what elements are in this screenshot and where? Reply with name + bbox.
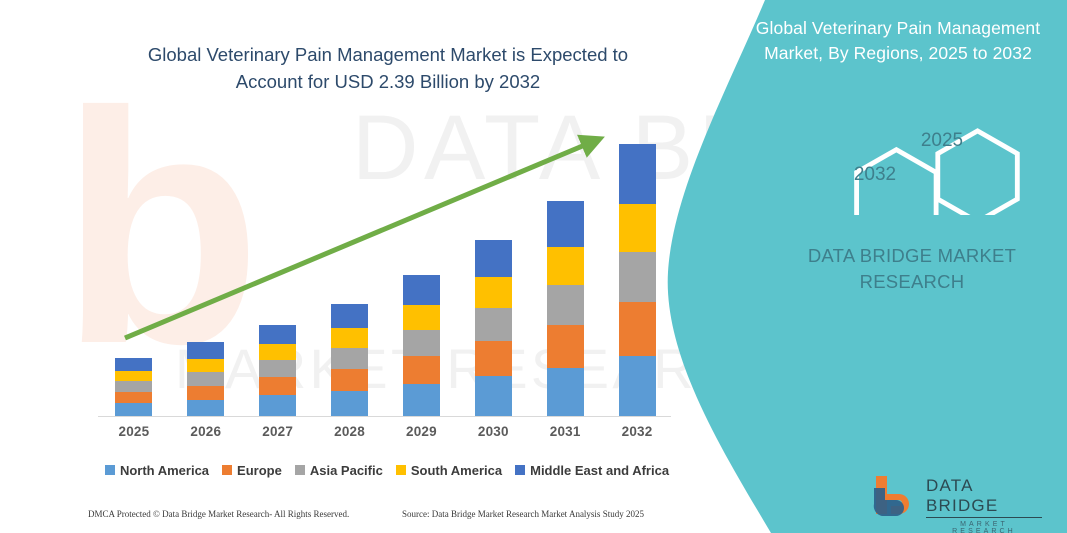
bar-segment xyxy=(115,403,152,416)
bar-column xyxy=(170,342,241,416)
bar-column xyxy=(314,304,385,416)
bar-segment xyxy=(331,304,368,328)
bar-segment xyxy=(187,400,224,416)
stacked-bar xyxy=(115,358,152,416)
bar-segment xyxy=(187,359,224,372)
legend-label: Middle East and Africa xyxy=(530,463,669,478)
stacked-bar xyxy=(259,325,296,416)
x-axis-label: 2026 xyxy=(170,424,241,450)
legend-swatch-icon xyxy=(105,465,115,475)
legend-label: Asia Pacific xyxy=(310,463,383,478)
legend-item[interactable]: North America xyxy=(105,463,209,478)
bar-segment xyxy=(547,285,584,325)
bar-segment xyxy=(547,247,584,285)
footer-copyright: DMCA Protected © Data Bridge Market Rese… xyxy=(88,509,349,519)
legend-label: North America xyxy=(120,463,209,478)
bar-segment xyxy=(187,386,224,400)
stacked-bar xyxy=(187,342,224,416)
bar-segment xyxy=(331,391,368,416)
footer-source: Source: Data Bridge Market Research Mark… xyxy=(402,509,644,519)
bar-segment xyxy=(475,308,512,341)
bar-segment xyxy=(259,325,296,344)
bar-segment xyxy=(475,376,512,416)
bar-column xyxy=(602,144,673,416)
bar-segment xyxy=(331,328,368,348)
bar-segment xyxy=(403,384,440,416)
bar-segment xyxy=(475,277,512,308)
bar-segment xyxy=(331,348,368,369)
x-axis-label: 2031 xyxy=(530,424,601,450)
bar-segment xyxy=(403,275,440,305)
chart-legend: North AmericaEuropeAsia PacificSouth Ame… xyxy=(98,458,676,482)
bar-segment xyxy=(619,144,656,204)
bar-segment xyxy=(259,360,296,377)
bar-segment xyxy=(331,369,368,391)
legend-label: South America xyxy=(411,463,502,478)
bar-segment xyxy=(475,240,512,277)
bar-segment xyxy=(619,356,656,416)
legend-item[interactable]: Asia Pacific xyxy=(295,463,383,478)
bar-segment xyxy=(115,381,152,392)
stacked-bar-chart xyxy=(98,120,673,416)
x-axis-labels: 20252026202720282029203020312032 xyxy=(98,424,673,450)
legend-item[interactable]: Middle East and Africa xyxy=(515,463,669,478)
legend-swatch-icon xyxy=(295,465,305,475)
hexagon-label-2025: 2025 xyxy=(921,130,963,151)
bar-segment xyxy=(547,325,584,368)
bar-segment xyxy=(187,372,224,386)
chart-title: Global Veterinary Pain Management Market… xyxy=(118,42,658,96)
dbmr-logo: DATA BRIDGE MARKET RESEARCH xyxy=(872,474,1042,516)
legend-label: Europe xyxy=(237,463,282,478)
panel-title: Global Veterinary Pain Management Market… xyxy=(742,16,1054,66)
bar-column xyxy=(458,240,529,416)
infographic-canvas: b DATA BRIDGE MARKET RESEARCH Global Vet… xyxy=(0,0,1067,533)
legend-swatch-icon xyxy=(222,465,232,475)
legend-swatch-icon xyxy=(515,465,525,475)
legend-item[interactable]: Europe xyxy=(222,463,282,478)
hexagon-label-2032: 2032 xyxy=(854,164,896,185)
bar-segment xyxy=(619,302,656,356)
x-axis-line xyxy=(98,416,671,417)
legend-swatch-icon xyxy=(396,465,406,475)
legend-item[interactable]: South America xyxy=(396,463,502,478)
hexagon-group: 2025 2032 xyxy=(820,100,1050,215)
bar-segment xyxy=(259,344,296,360)
stacked-bar xyxy=(403,275,440,416)
bar-segment xyxy=(619,204,656,252)
bar-segment xyxy=(187,342,224,359)
bar-segment xyxy=(115,371,152,381)
x-axis-label: 2027 xyxy=(242,424,313,450)
bar-segment xyxy=(115,358,152,371)
stacked-bar xyxy=(619,144,656,416)
bar-column xyxy=(98,358,169,416)
bar-column xyxy=(242,325,313,416)
stacked-bar xyxy=(475,240,512,416)
bar-segment xyxy=(547,201,584,247)
logo-tagline: MARKET RESEARCH xyxy=(926,521,1042,533)
stacked-bar xyxy=(547,201,584,416)
bar-segment xyxy=(259,395,296,416)
bar-segment xyxy=(115,392,152,403)
x-axis-label: 2028 xyxy=(314,424,385,450)
bar-segment xyxy=(403,356,440,384)
bar-segment xyxy=(547,368,584,416)
x-axis-label: 2029 xyxy=(386,424,457,450)
brand-name: DATA BRIDGE MARKET RESEARCH xyxy=(780,243,1044,296)
bar-segment xyxy=(259,377,296,395)
x-axis-label: 2025 xyxy=(98,424,169,450)
stacked-bar xyxy=(331,304,368,416)
x-axis-label: 2032 xyxy=(602,424,673,450)
bar-segment xyxy=(403,305,440,330)
logo-title: DATA BRIDGE xyxy=(926,476,1042,518)
bar-column xyxy=(386,275,457,416)
x-axis-label: 2030 xyxy=(458,424,529,450)
bar-segment xyxy=(619,252,656,302)
bar-segment xyxy=(403,330,440,356)
bar-column xyxy=(530,201,601,416)
logo-bridge-icon xyxy=(872,474,920,516)
bar-segment xyxy=(475,341,512,376)
